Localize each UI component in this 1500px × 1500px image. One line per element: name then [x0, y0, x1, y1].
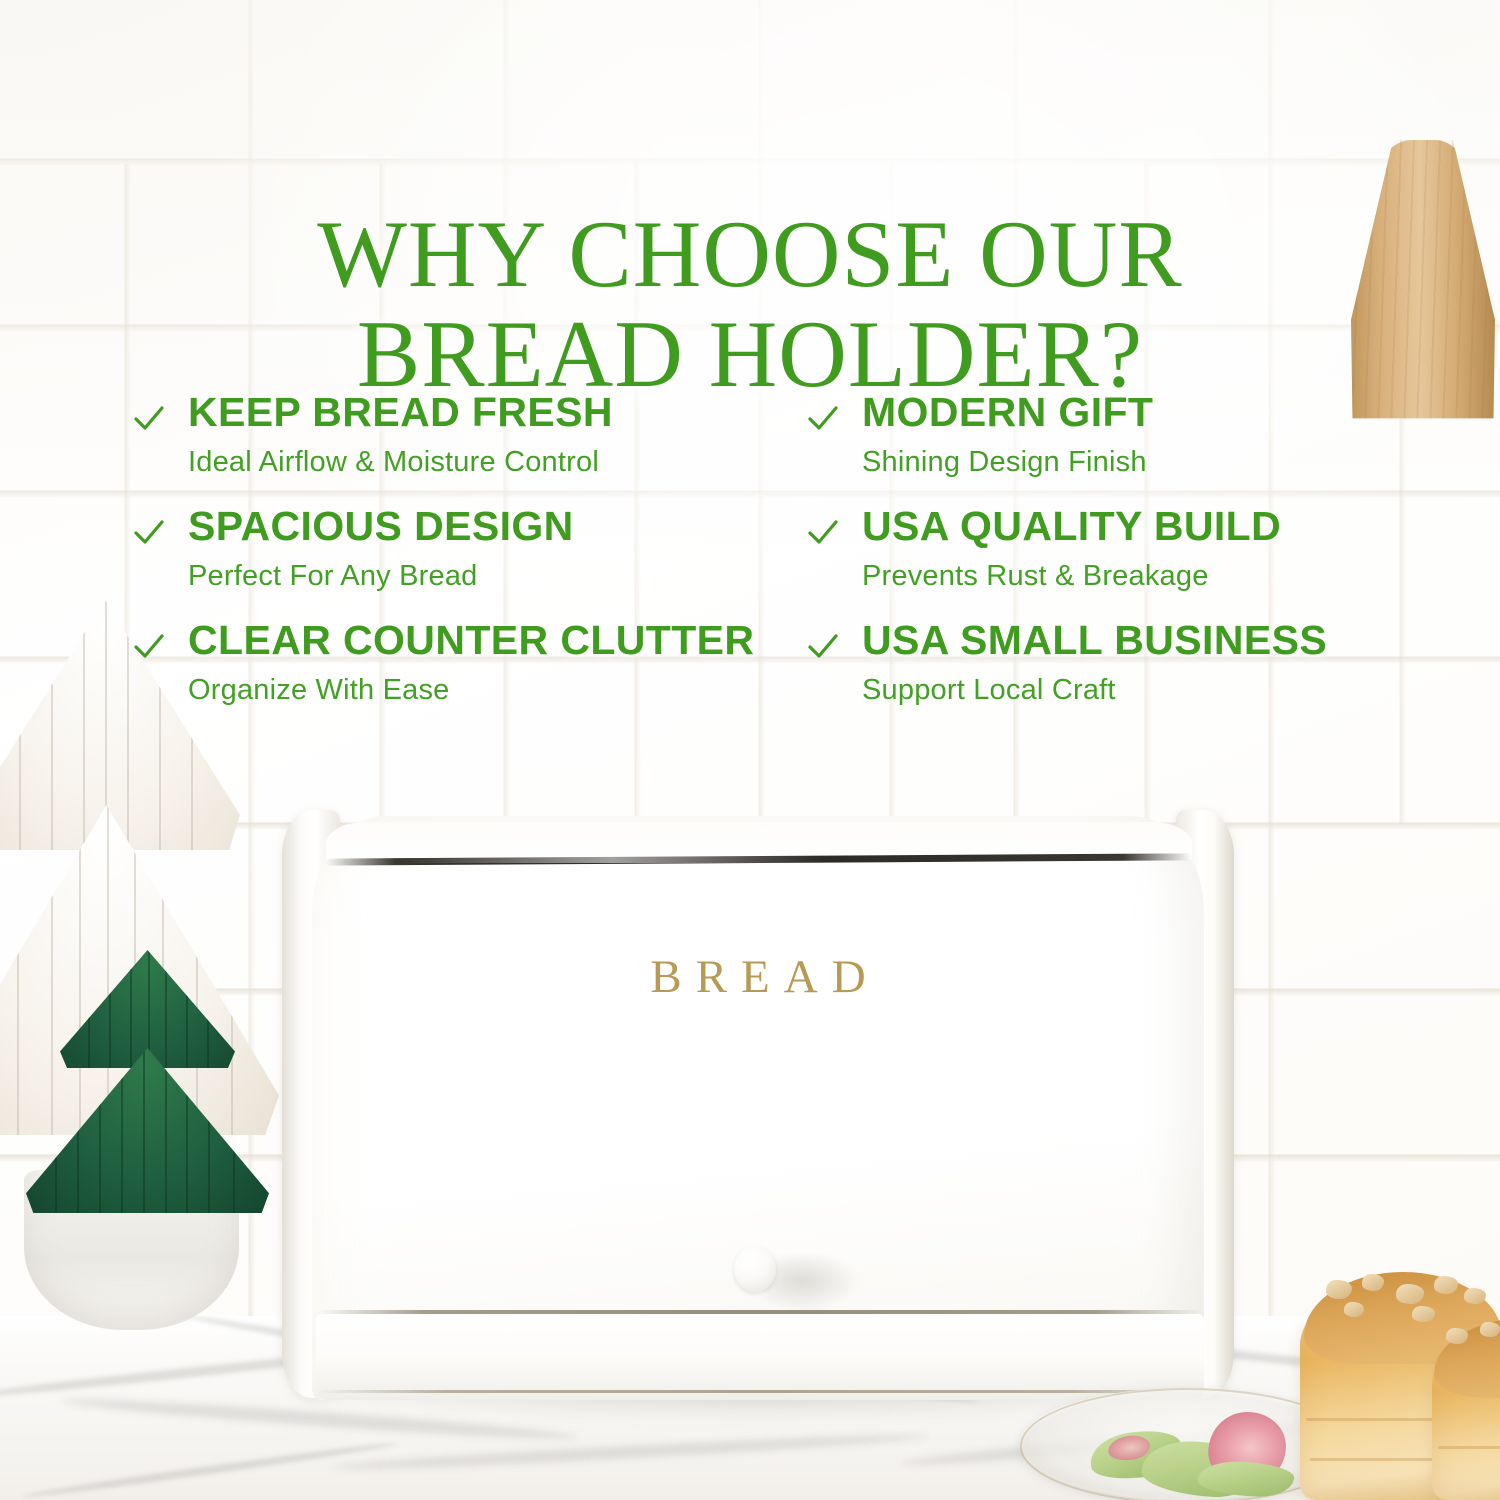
feature-subtitle: Perfect For Any Bread [188, 562, 574, 591]
check-icon [806, 630, 840, 664]
feature-title: MODERN GIFT [862, 392, 1153, 433]
check-icon [806, 402, 840, 436]
feature-list: KEEP BREAD FRESH Ideal Airflow & Moistur… [0, 392, 1500, 722]
feature-subtitle: Ideal Airflow & Moisture Control [188, 448, 613, 477]
feature-title: USA QUALITY BUILD [862, 506, 1281, 547]
feature-title: SPACIOUS DESIGN [188, 506, 574, 547]
page-title: WHY CHOOSE OUR BREAD HOLDER? [0, 204, 1500, 405]
brioche-roll-front [1432, 1318, 1500, 1500]
check-icon [132, 516, 166, 550]
feature-subtitle: Shining Design Finish [862, 448, 1153, 477]
product-infographic: WHY CHOOSE OUR BREAD HOLDER? KEEP BREAD … [0, 0, 1500, 1500]
bread-box-seam-highlight [402, 854, 822, 863]
feature-item: KEEP BREAD FRESH Ideal Airflow & Moistur… [132, 392, 613, 477]
feature-title: KEEP BREAD FRESH [188, 392, 613, 433]
lid-knob[interactable] [734, 1246, 776, 1292]
green-tree-bottom-tier [26, 1048, 269, 1213]
check-icon [132, 630, 166, 664]
check-icon [132, 402, 166, 436]
feature-title: CLEAR COUNTER CLUTTER [188, 620, 754, 661]
bread-box-base [316, 1314, 1204, 1400]
feature-subtitle: Support Local Craft [862, 676, 1327, 705]
feature-title: USA SMALL BUSINESS [862, 620, 1327, 661]
feature-item: USA QUALITY BUILD Prevents Rust & Breaka… [806, 506, 1281, 591]
check-icon [806, 516, 840, 550]
feature-item: SPACIOUS DESIGN Perfect For Any Bread [132, 506, 574, 591]
feature-subtitle: Prevents Rust & Breakage [862, 562, 1281, 591]
headline-line-1: WHY CHOOSE OUR [317, 201, 1182, 307]
feature-item: USA SMALL BUSINESS Support Local Craft [806, 620, 1327, 705]
feature-item: CLEAR COUNTER CLUTTER Organize With Ease [132, 620, 754, 705]
bread-box-label: BREAD [282, 950, 1234, 1004]
knob-shadow [764, 1256, 860, 1312]
feature-subtitle: Organize With Ease [188, 676, 754, 705]
bread-box: BREAD [282, 794, 1234, 1414]
green-paper-tree [20, 950, 270, 1250]
bread-box-base-bottom-edge [318, 1390, 1202, 1393]
feature-item: MODERN GIFT Shining Design Finish [806, 392, 1153, 477]
